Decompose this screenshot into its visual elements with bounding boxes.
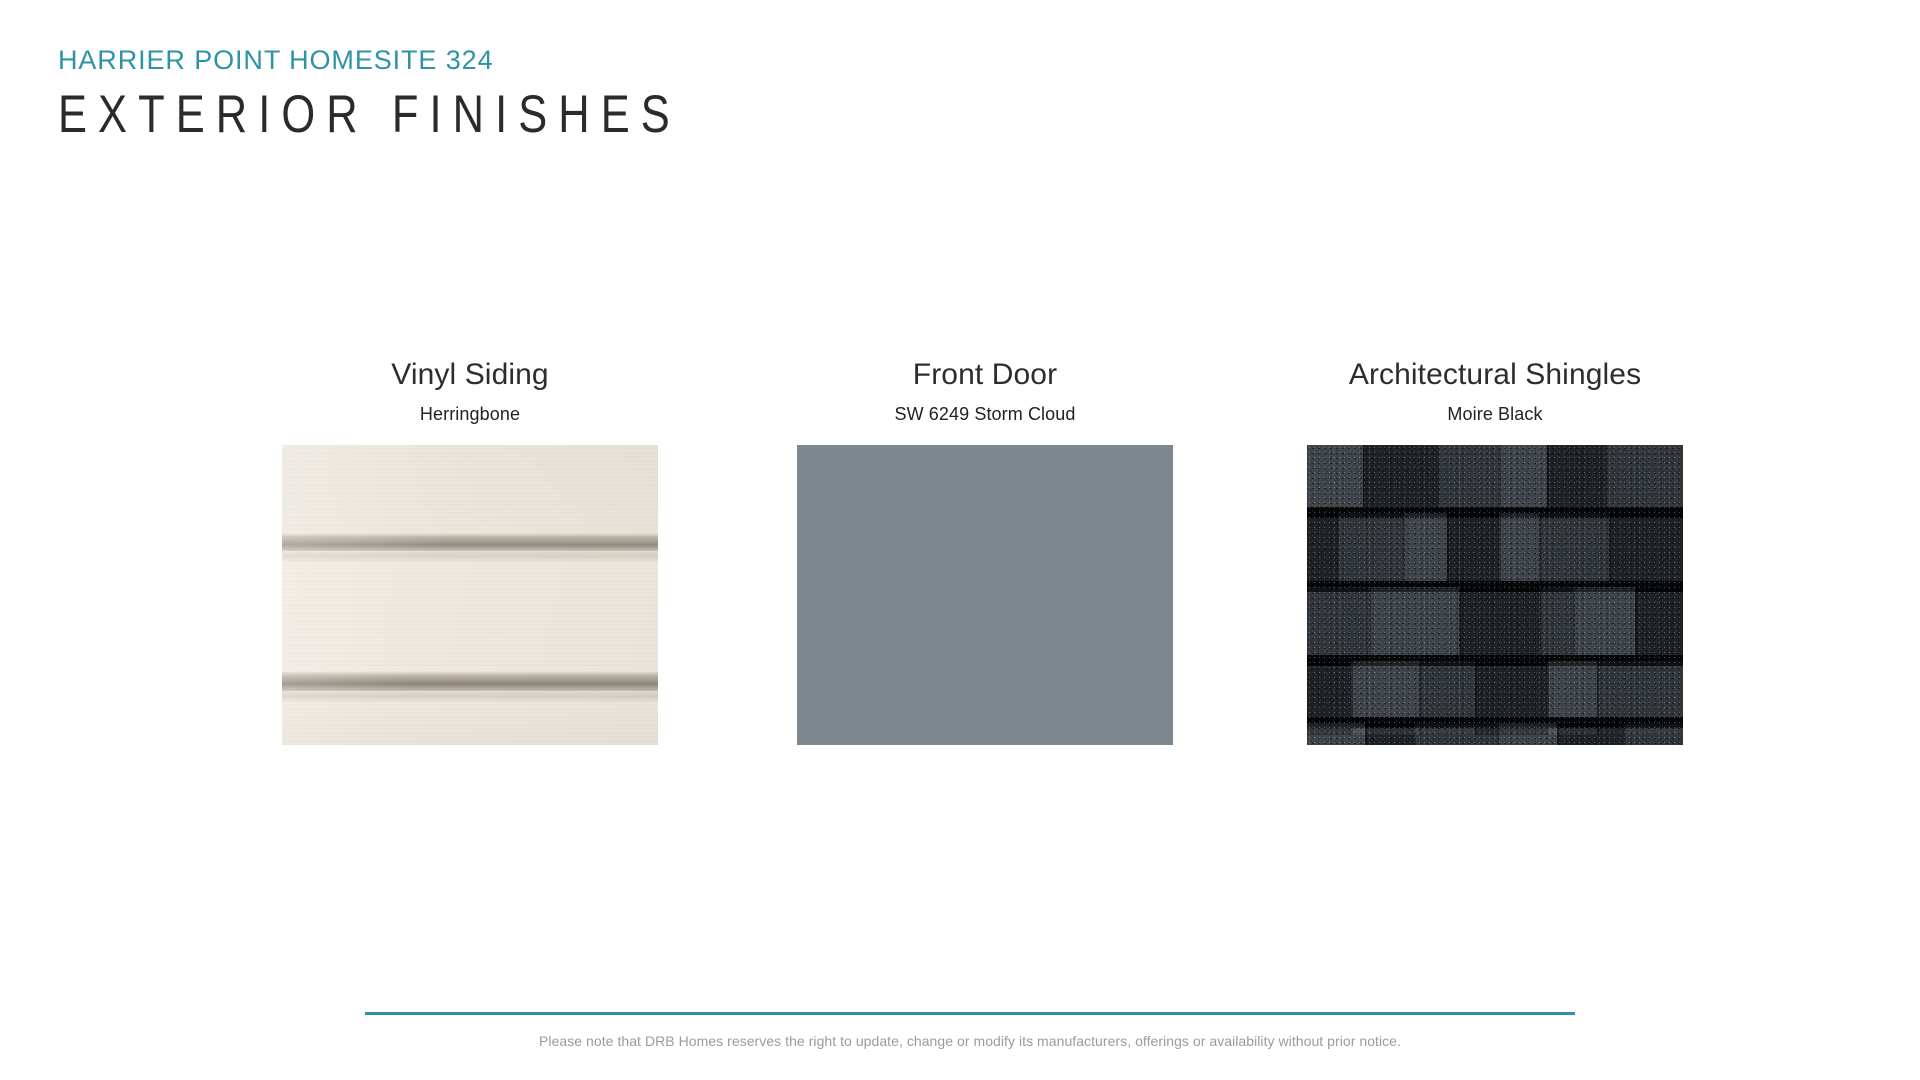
swatch-container [260,445,680,745]
finish-selection-grid: Vinyl Siding Herringbone Front Door SW 6… [0,358,1920,778]
swatch-image-vinyl-siding [282,445,658,745]
exterior-finishes-slide: { "header": { "eyebrow": "HARRIER POINT … [0,0,1920,1080]
footer-divider [365,1012,1575,1015]
swatch-container [775,445,1195,745]
disclaimer-text: Please note that DRB Homes reserves the … [365,1033,1575,1049]
finish-card-front-door: Front Door SW 6249 Storm Cloud [775,358,1195,745]
finish-card-architectural-shingles: Architectural Shingles Moire Black [1285,358,1705,745]
siding-sheen-overlay [282,445,658,745]
finish-selection-label: SW 6249 Storm Cloud [775,404,1195,425]
finish-card-vinyl-siding: Vinyl Siding Herringbone [260,358,680,745]
swatch-image-front-door [797,445,1173,745]
finish-selection-label: Moire Black [1285,404,1705,425]
swatch-image-architectural-shingles [1307,445,1683,745]
finish-category-label: Vinyl Siding [260,358,680,391]
finish-selection-label: Herringbone [260,404,680,425]
slide-header: HARRIER POINT HOMESITE 324 EXTERIOR FINI… [58,46,1458,147]
homesite-label: HARRIER POINT HOMESITE 324 [58,46,1458,76]
slide-footer: Please note that DRB Homes reserves the … [365,1012,1575,1049]
shingle-granule-texture [1307,445,1683,745]
swatch-container [1285,445,1705,745]
finish-category-label: Front Door [775,358,1195,391]
finish-category-label: Architectural Shingles [1285,358,1705,391]
page-title: EXTERIOR FINISHES [58,83,1206,148]
